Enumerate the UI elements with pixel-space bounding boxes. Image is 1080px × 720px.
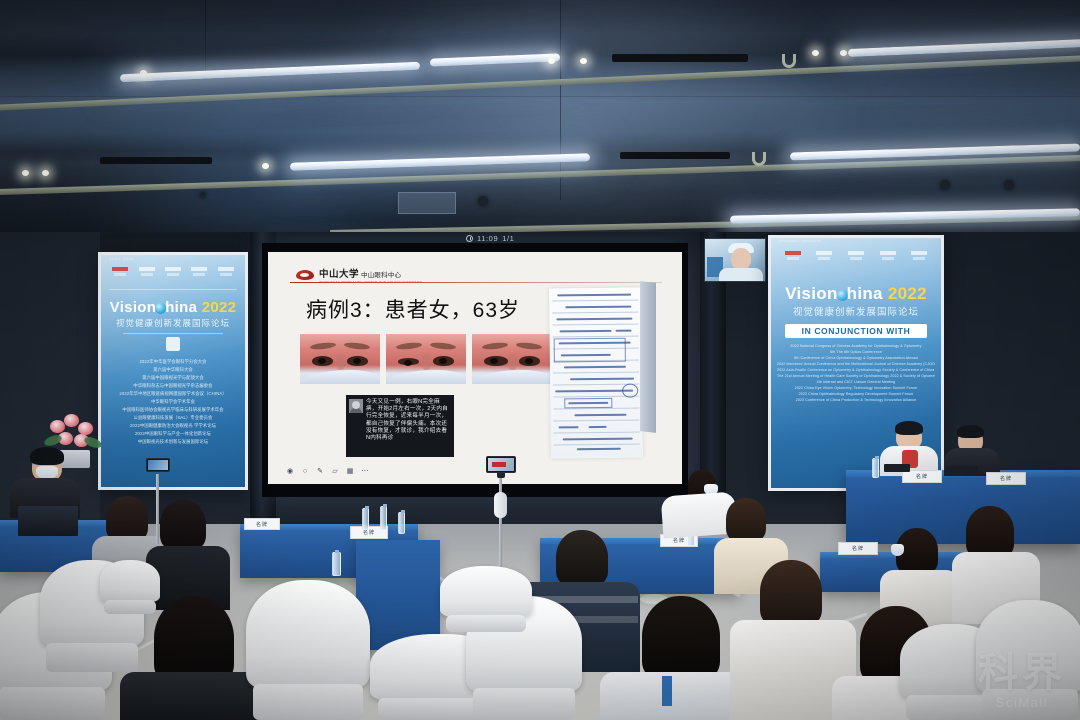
ceiling-seam — [205, 0, 206, 80]
banner-right-item: 4th Internal and CICT Liaison General Me… — [777, 380, 935, 384]
banner-right-item: 2022 Conference of China Production & Te… — [777, 398, 935, 402]
ceiling-air-vent — [398, 192, 456, 214]
brand-year: 2022 — [888, 284, 927, 303]
attendee-seated-far-right — [966, 506, 1014, 558]
banner-left-microtext: 主办单位 / 支持单位 — [109, 257, 134, 261]
sponsor-logo-icon — [880, 251, 896, 265]
banner-right-subtitle: 视觉健康创新发展国际论坛 — [771, 304, 941, 318]
water-bottle — [398, 512, 405, 534]
brand-word2: hina — [847, 284, 883, 303]
ceiling-light-dot — [42, 170, 49, 176]
logo-line1: 中山大学 — [319, 266, 359, 280]
placard: 名牌 — [838, 542, 878, 555]
laptop — [884, 464, 910, 472]
user-avatar-icon — [349, 399, 363, 413]
water-bottle — [872, 458, 879, 478]
ceiling-seam — [560, 0, 561, 200]
ceiling-sprinkler-icon — [200, 192, 206, 198]
eye-swoosh-logo-icon — [296, 270, 314, 280]
head-table — [846, 470, 1080, 544]
water-bottle — [380, 506, 387, 530]
banner-right-item: 2022 National Congress of Chinese Academ… — [777, 344, 935, 348]
ceiling-light-strip — [848, 39, 1080, 57]
clinical-photo-row — [300, 334, 552, 384]
banner-left-item: 2022年中华医学会眼科学分会大会 — [107, 359, 239, 365]
banner-right-item: 2022 Members' Annual Conference and the … — [777, 362, 935, 366]
banner-left-item: 第六届中国眼视光学与配镜大会 — [107, 375, 239, 381]
pointer-icon[interactable]: ◉ — [286, 468, 294, 476]
ceiling-light-dot — [140, 70, 147, 76]
slide-counter: 1/1 — [502, 234, 514, 243]
banner-right-item: 6th Conference of China Ophthalmology & … — [777, 356, 935, 360]
slide-title: 病例3：患者女，63岁 — [306, 294, 520, 324]
ceiling — [0, 0, 1080, 240]
sponsor-logo-icon — [816, 251, 832, 265]
attendee-foreground-2 — [642, 596, 720, 680]
sponsor-logo-icon — [112, 267, 128, 281]
banner-left-item: 中国眼科医师协会眼视光学临床与科研发展学术年会 — [107, 407, 239, 413]
banner-right-item: 2022 Asia-Pacific Conference on Optometr… — [777, 368, 935, 372]
more-icon[interactable]: ⋯ — [361, 468, 369, 476]
phone-camera-icon — [146, 458, 170, 472]
water-bottle — [332, 552, 341, 576]
banner-right-item: The 21st Annual Meeting of Health Care S… — [777, 374, 935, 378]
banner-right-item: 2022 China Eye Vision Optometry, Technol… — [777, 386, 935, 390]
water-bottle — [362, 508, 369, 530]
attendee-foreground-3 — [760, 560, 822, 626]
handwritten-medical-record — [549, 288, 643, 459]
circle-icon[interactable]: ○ — [301, 468, 309, 476]
conference-photo: 中山大学 中山眼科中心 ZHONGSHAN OPHTHALMIC CENTER,… — [0, 0, 1080, 720]
clinical-eye-photo-2 — [386, 334, 466, 384]
ceiling-light-dot — [580, 58, 587, 64]
banner-left-item: 2022中国眼科学与产业一体化创新论坛 — [107, 431, 239, 437]
ceiling-speaker-icon — [478, 196, 488, 206]
note-circle-mark — [622, 384, 638, 398]
ceiling-track — [620, 152, 730, 159]
ceiling-speaker-icon — [1004, 180, 1014, 190]
banner-left-item: 2022年华中地区眼底病视网膜国际学术会议（CHINA） — [107, 391, 239, 397]
sponsor-logo-icon — [848, 251, 864, 265]
clinical-eye-photo-3 — [472, 334, 552, 384]
banner-right-brand: Visionhina 2022 — [771, 284, 941, 304]
banner-left-item: 中华眼科杂志与中国眼视光学杂志编委会 — [107, 383, 239, 389]
banner-left-subtitle: 视觉健康创新发展国际论坛 — [101, 317, 245, 329]
sponsor-logo-icon — [165, 267, 181, 281]
banner-left-brand: Visionhina 2022 — [101, 299, 245, 316]
laptop — [946, 466, 978, 474]
ceiling-speaker-icon — [940, 180, 950, 190]
sponsor-logo-icon — [218, 267, 234, 281]
banner-right-item: 6th The 6th Optics Conference — [777, 350, 935, 354]
slide-menu-icon[interactable]: ▦ — [346, 468, 354, 476]
presentation-timer: 11:09 1/1 — [466, 234, 514, 243]
clinical-eye-photo-1 — [300, 334, 380, 384]
remote-speaker-video-feed — [704, 238, 766, 282]
timer-time: 11:09 — [477, 234, 498, 243]
brand-word1: Vision — [785, 284, 838, 303]
lanyard — [662, 676, 672, 706]
attendee-seated-mid — [726, 498, 766, 542]
clock-icon — [466, 235, 473, 242]
ceiling-light-dot — [840, 50, 847, 56]
banner-left-item: 公益眼健康科技发展（SAL）专业委员会 — [107, 415, 239, 421]
chair — [976, 600, 1080, 720]
projection-screen: 中山大学 中山眼科中心 ZHONGSHAN OPHTHALMIC CENTER,… — [268, 252, 682, 484]
chair — [246, 580, 370, 720]
sponsor-logo-icon — [191, 267, 207, 281]
eraser-icon[interactable]: ▱ — [331, 468, 339, 476]
banner-left-item: 第六届中华眼科大会 — [107, 367, 239, 373]
slide-toolbar[interactable]: ◉ ○ ✎ ▱ ▦ ⋯ — [286, 468, 369, 476]
banner-right-microtext: ORGANIZERS / SUPPORTERS — [779, 240, 821, 243]
slide-divider — [290, 282, 662, 283]
paper-edge-shadow — [640, 281, 656, 433]
phone-camera-icon — [486, 456, 516, 473]
ceiling-hook-icon — [782, 54, 796, 68]
sponsor-logo-icon — [139, 267, 155, 281]
ceiling-light-dot — [812, 50, 819, 56]
banner-left-item: 中国眼视光技术创新与发展国际论坛 — [107, 439, 239, 445]
attendee-foreground-1 — [556, 530, 608, 586]
in-conjunction-with-heading: IN CONJUNCTION WITH — [785, 324, 927, 338]
chat-message-text: 今天又见一例，右眼N完全麻痹，开始2月左右一次，2天内自行完全恢复，近来每半月一… — [366, 399, 450, 453]
laptop — [18, 506, 78, 536]
placard: 名牌 — [986, 472, 1026, 485]
attendee-foreground-left — [154, 596, 234, 684]
attendee-seated-left-2 — [160, 500, 206, 550]
ceiling-track — [100, 157, 212, 164]
chair — [440, 566, 532, 632]
banner-left: 主办单位 / 支持单位 Visionhina 2022 视觉健康创新发展国际论坛… — [98, 252, 248, 490]
sponsor-logo-icon — [785, 251, 801, 265]
chat-message-screenshot: 今天又见一例，右眼N完全麻痹，开始2月左右一次，2天内自行完全恢复，近来每半月一… — [346, 395, 454, 457]
sponsor-logo-icon — [911, 251, 927, 265]
brand-word2: hina — [165, 299, 197, 316]
chair — [100, 560, 160, 614]
ceiling-light-dot — [262, 163, 269, 169]
ceiling-track — [612, 54, 748, 62]
banner-left-item: 2022中国眼健康防治大会眼视光 学学术论坛 — [107, 423, 239, 429]
brand-word1: Vision — [110, 299, 157, 316]
banner-left-item: 中华眼科学会学术年会 — [107, 399, 239, 405]
pen-icon[interactable]: ✎ — [316, 468, 324, 476]
ceiling-light-dot — [22, 170, 29, 176]
attendee-seated-right — [896, 528, 938, 574]
brand-year: 2022 — [202, 299, 237, 316]
banner-right-item: 2022 China Ophthalmology Regulatory Deve… — [777, 392, 935, 396]
ceiling-hook-icon — [752, 152, 766, 166]
placard: 名牌 — [244, 518, 280, 530]
forum-seal-icon — [166, 337, 180, 351]
logo-line2: 中山眼科中心 — [361, 269, 401, 279]
ceiling-light-dot — [548, 58, 555, 64]
